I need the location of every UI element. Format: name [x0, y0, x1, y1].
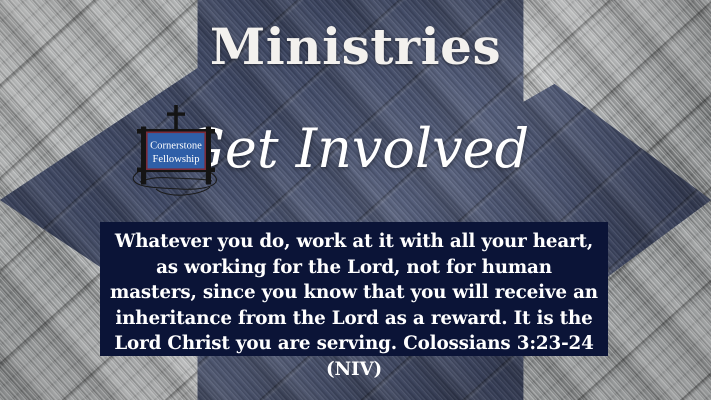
- scripture-text-box: Whatever you do, work at it with all you…: [100, 222, 608, 356]
- cornerstone-fellowship-logo: Cornerstone Fellowship: [126, 104, 226, 204]
- subtitle-get-involved: Get Involved: [0, 122, 711, 176]
- logo-line2: Fellowship: [152, 154, 199, 165]
- logo-line1: Cornerstone: [150, 141, 202, 152]
- ministries-slide: Ministries Get Involved: [0, 0, 711, 400]
- cross-icon: [167, 105, 185, 131]
- page-title: Ministries: [0, 22, 711, 72]
